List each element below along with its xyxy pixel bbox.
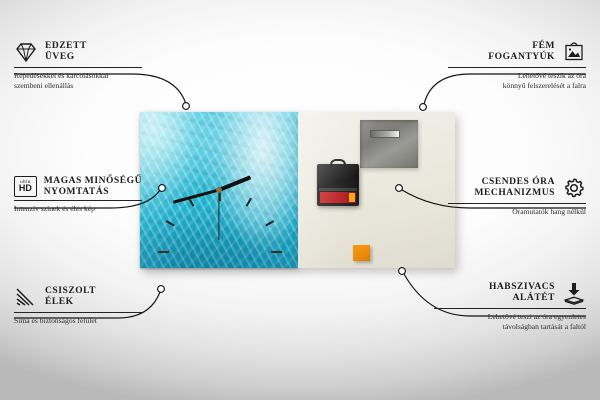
feature-metal-handles[interactable]: FÉM FOGANTYÚK Lehetővé teszik az óra kön… [448,40,586,91]
mechanism-hanger-loop [330,159,346,167]
clock-center-cap [216,187,222,193]
mechanism-chip [349,193,355,202]
feature-sub-line1: Intenzív színek és éles kép [14,204,142,214]
mechanism-red-label [320,192,356,203]
wire-endpoint-tempered-glass [183,103,190,110]
diamond-icon [14,40,38,64]
feature-polished-edges[interactable]: CSISZOLT ÉLEK Sima és biztonságos felüle… [14,285,142,326]
clock-back-panel [298,112,455,268]
feature-sub-line1: Óramutatók hang nélkül [448,207,586,217]
feature-title-line1: EDZETT [45,41,87,52]
infographic-stage: EDZETT ÜVEG Repedésekkel és karcolásokka… [0,0,600,400]
feature-sub-line1: Repedésekkel és karcolásokkal [14,71,142,81]
hanger-keyhole-slot [370,130,400,138]
clock-mechanism-box [317,164,359,206]
clock-hour-hand [218,175,251,191]
polished-edge-icon [14,285,38,309]
ultra-hd-icon: ultra HD [14,176,37,197]
feature-sub-line1: Lehetővé teszi az óra egyenletes [434,312,586,322]
foam-pad-icon [562,281,586,305]
feature-divider [14,67,142,68]
feature-title-line1: FÉM [532,41,555,52]
clock-front-panel [140,112,298,268]
foam-spacer-pad [353,245,370,261]
feature-tempered-glass[interactable]: EDZETT ÜVEG Repedésekkel és karcolásokka… [14,40,142,91]
wall-mount-icon [562,40,586,64]
feature-title-line2: FOGANTYÚK [488,52,555,63]
feature-title-line1: HABSZIVACS [489,282,555,293]
feature-sub-line1: Sima és biztonságos felület [14,316,142,326]
feature-title-line1: MAGAS MINŐSÉGŰ [44,176,142,187]
wire-endpoint-foam-pad [399,268,406,275]
feature-title-line1: CSISZOLT [45,286,96,297]
ultra-hd-icon-hd: HD [19,184,32,193]
feature-foam-pad[interactable]: HABSZIVACS ALÁTÉT Lehetővé teszi az óra … [434,281,586,332]
feature-title-line2: ALÁTÉT [513,293,555,304]
clock-dial [140,112,298,268]
metal-hanger-plate [360,120,418,168]
feature-divider [14,200,142,201]
mechanism-seam [319,188,357,191]
feature-title-line1: CSENDES ÓRA [482,177,555,188]
wire-endpoint-polished-edges [158,286,165,293]
feature-divider [448,203,586,204]
feature-sub-line1: Lehetővé teszik az óra [448,71,586,81]
feature-quiet-mechanism[interactable]: CSENDES ÓRA MECHANIZMUS Óramutatók hang … [448,176,586,217]
wire-endpoint-metal-handles [420,104,427,111]
feature-divider [14,312,142,313]
feature-title-line2: ÉLEK [45,297,74,308]
product-image [140,112,455,268]
clock-minute-hand [173,188,219,203]
feature-sub-line2: távolságban tartását a faltól [434,322,586,332]
feature-sub-line2: szembeni ellenállás [14,81,142,91]
feature-divider [434,308,586,309]
feature-title-line2: NYOMTATÁS [44,187,109,198]
gear-icon [562,176,586,200]
feature-sub-line2: könnyű felszerelését a falra [448,81,586,91]
feature-divider [448,67,586,68]
feature-title-line2: ÜVEG [45,52,75,63]
feature-title-line2: MECHANIZMUS [475,188,555,199]
feature-high-quality-print[interactable]: ultra HD MAGAS MINŐSÉGŰ NYOMTATÁS Intenz… [14,176,142,214]
